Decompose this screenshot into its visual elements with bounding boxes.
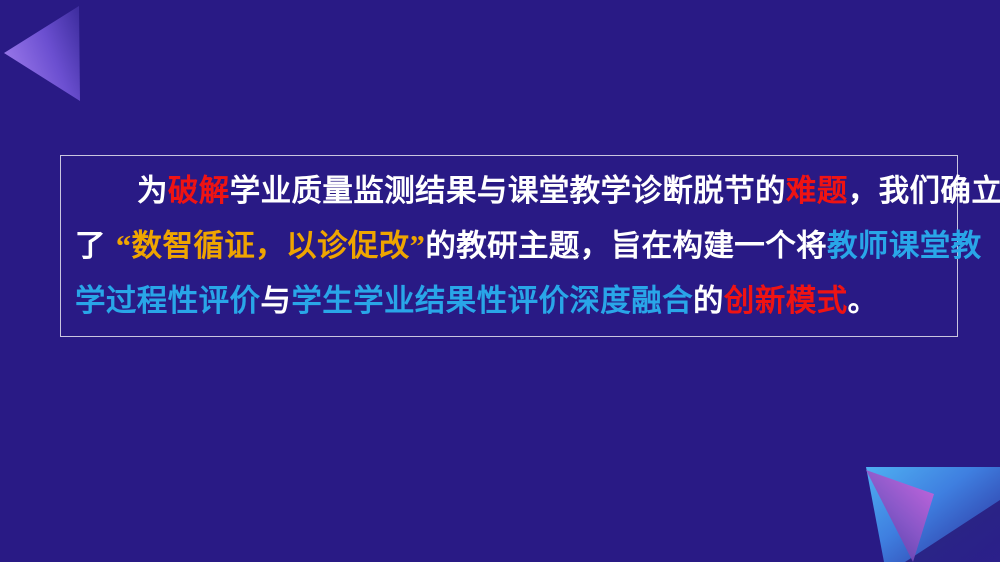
line2-highlight-teacher: 教师课堂教	[827, 229, 982, 263]
line3-seg4: 的	[693, 284, 724, 318]
magenta-triangle-bottom-right	[866, 470, 934, 562]
purple-triangle-top-left	[4, 6, 80, 101]
slide-canvas: 为破解学业质量监测结果与课堂教学诊断脱节的难题，我们确立 了“数智循证，以诊促改…	[0, 0, 1000, 562]
line3-highlight-innovation: 创新模式	[724, 284, 848, 318]
line2-seg3: 的教研主题，旨在构建一个将	[425, 229, 827, 263]
line3-seg1: 学过程性评价	[75, 284, 260, 318]
content-text-box: 为破解学业质量监测结果与课堂教学诊断脱节的难题，我们确立 了“数智循证，以诊促改…	[60, 155, 958, 337]
blue-triangle-bottom-right	[866, 467, 1000, 562]
line1-highlight-nanti: 难题	[786, 174, 848, 208]
line1-seg3: 学业质量监测结果与课堂教学诊断脱节的	[230, 174, 786, 208]
paragraph-line-3: 学过程性评价与学生学业结果性评价深度融合的创新模式。	[75, 274, 945, 329]
dark-triangle-bottom-right	[905, 500, 1000, 562]
paragraph-line-1: 为破解学业质量监测结果与课堂教学诊断脱节的难题，我们确立	[75, 164, 945, 219]
line3-seg2: 与	[260, 284, 291, 318]
slide-paragraph: 为破解学业质量监测结果与课堂教学诊断脱节的难题，我们确立 了“数智循证，以诊促改…	[75, 164, 945, 329]
line3-seg3: 学生学业结果性评价深度融合	[291, 284, 693, 318]
line3-seg6: 。	[848, 284, 879, 318]
paragraph-line-2: 了“数智循证，以诊促改”的教研主题，旨在构建一个将教师课堂教	[75, 219, 945, 274]
line1-seg5: ，我们确立	[848, 174, 1000, 208]
line2-seg1: 了	[75, 229, 106, 263]
line1-highlight-pojie: 破解	[168, 174, 230, 208]
line1-seg1: 为	[137, 174, 168, 208]
line2-highlight-theme: “数智循证，以诊促改”	[116, 229, 425, 263]
